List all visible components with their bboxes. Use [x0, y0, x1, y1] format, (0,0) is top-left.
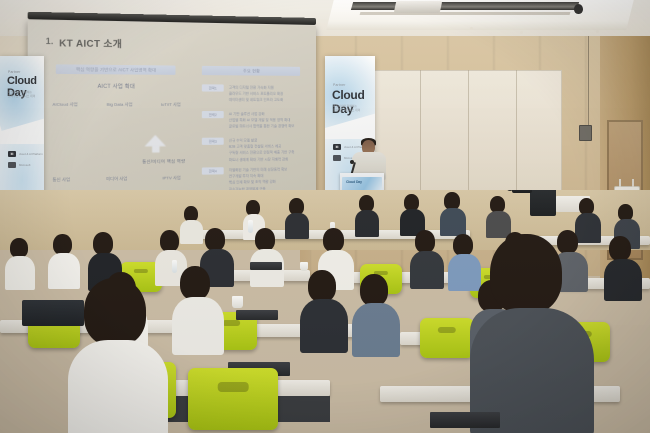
- cable-drop: [588, 36, 589, 136]
- microphone-head: [350, 160, 354, 164]
- ceiling-light: [470, 27, 473, 30]
- banner-subtitle: 파트너사와 함께하는 클라우드 비즈니스 데이: [333, 104, 369, 112]
- paper-cup: [300, 262, 308, 271]
- chair[interactable]: [188, 368, 278, 430]
- laptop: [430, 412, 500, 428]
- ceiling-track-rail: [351, 2, 579, 10]
- microsoft-logo-mark: [8, 162, 16, 168]
- slide-bullet: 전략4 차별화된 기술 기반의 미래 성장동력 확보 연구개발 투자 지속 확대…: [202, 166, 287, 191]
- ceiling-light: [596, 30, 599, 33]
- ceiling-light: [520, 31, 523, 34]
- banner-logo-text: cloud & AI Platform: [19, 152, 43, 156]
- banner-logo-text: Microsoft: [19, 163, 30, 167]
- slide-bullet-lines: AI 기반 솔루션 사업 강화 산업별 특화 AI 모델 개발 및 적용 영역 …: [229, 111, 295, 129]
- slide-bullet-lines: 차별화된 기술 기반의 미래 성장동력 확보 연구개발 투자 지속 확대 핵심 …: [229, 166, 287, 191]
- podium-sign-text: Cloud Day: [346, 180, 362, 184]
- kt-logo-mark: kt: [8, 151, 16, 157]
- slide-bullet: 전략1 고객의 디지털 전환 가속화 지원 클라우드 기반 서비스 포트폴리오 …: [202, 84, 283, 102]
- banner-pretext: Partner: [8, 70, 21, 74]
- paper-cup: [232, 296, 243, 308]
- slide-bullet-tag: 전략3: [202, 138, 224, 145]
- projector-icon: [394, 1, 443, 13]
- microsoft-logo-mark: [333, 155, 341, 161]
- kt-logo-mark: kt: [333, 144, 341, 150]
- slide-bullet-lines: 고객의 디지털 전환 가속화 지원 클라우드 기반 서비스 포트폴리오 확장 데…: [229, 84, 283, 102]
- slide-right-band: 주요 현황: [202, 66, 300, 76]
- banner-subtitle: 파트너사와 함께하는 클라우드 비즈니스 데이: [8, 90, 40, 98]
- projection-screen: 1. KT AICT 소개 핵심 역량을 기반으로 AICT 사업영역 확대 A…: [28, 20, 316, 199]
- laptop: [250, 262, 282, 270]
- audience-area: [0, 190, 650, 433]
- videographer-body: [530, 190, 556, 216]
- laptop: [236, 310, 278, 320]
- slide-bullet-tag: 전략2: [202, 111, 224, 118]
- water-bottle: [248, 220, 253, 233]
- slide-surface: 1. KT AICT 소개 핵심 역량을 기반으로 AICT 사업영역 확대 A…: [28, 20, 316, 199]
- seminar-room-photo: 1. KT AICT 소개 핵심 역량을 기반으로 AICT 사업영역 확대 A…: [0, 0, 650, 433]
- screen-glare: [28, 20, 226, 199]
- wall-jack: [579, 125, 592, 141]
- slide-bullet-lines: 신규 수익 모델 발굴 B2B 고객 맞춤형 컨설팅 서비스 제공 구독형 서비…: [229, 137, 295, 161]
- banner-pretext: Partner: [333, 83, 346, 87]
- water-bottle: [172, 260, 177, 273]
- slide-bullet: 전략2 AI 기반 솔루션 사업 강화 산업별 특화 AI 모델 개발 및 적용…: [202, 111, 295, 129]
- banner-logo-microsoft: Microsoft: [8, 162, 30, 168]
- slide-bullet-tag: 전략4: [202, 167, 224, 174]
- slide-bullet: 전략3 신규 수익 모델 발굴 B2B 고객 맞춤형 컨설팅 서비스 제공 구독…: [202, 137, 295, 162]
- dome-camera-icon: [574, 4, 583, 14]
- chair[interactable]: [420, 318, 474, 358]
- bag: [22, 300, 84, 326]
- video-camera-icon: [512, 190, 532, 193]
- ceiling-track-rail-secondary: [360, 12, 571, 15]
- banner-logo-kt: kt cloud & AI Platform: [8, 151, 43, 157]
